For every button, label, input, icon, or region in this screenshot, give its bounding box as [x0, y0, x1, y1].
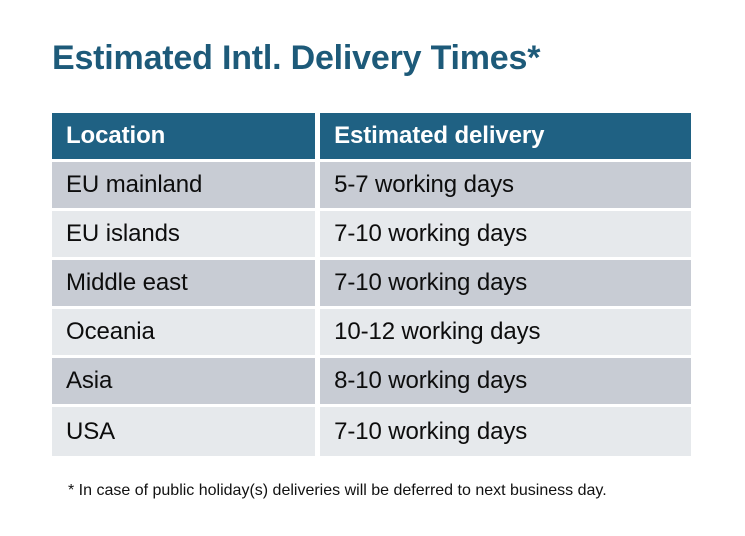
delivery-times-page: Estimated Intl. Delivery Times* Location… — [0, 0, 745, 536]
column-header-location: Location — [52, 113, 320, 162]
column-header-estimated-delivery: Estimated delivery — [320, 113, 691, 162]
table-body: EU mainland 5-7 working days EU islands … — [52, 162, 691, 456]
cell-estimated-delivery: 7-10 working days — [320, 407, 691, 456]
table-header-row: Location Estimated delivery — [52, 113, 691, 162]
footnote: * In case of public holiday(s) deliverie… — [68, 480, 607, 502]
cell-location: Oceania — [52, 309, 320, 358]
page-title: Estimated Intl. Delivery Times* — [52, 36, 540, 80]
delivery-times-table: Location Estimated delivery EU mainland … — [52, 113, 691, 456]
cell-location: Asia — [52, 358, 320, 407]
cell-estimated-delivery: 7-10 working days — [320, 260, 691, 309]
table-row: Middle east 7-10 working days — [52, 260, 691, 309]
table-row: EU islands 7-10 working days — [52, 211, 691, 260]
table-row: Oceania 10-12 working days — [52, 309, 691, 358]
cell-estimated-delivery: 5-7 working days — [320, 162, 691, 211]
cell-location: EU mainland — [52, 162, 320, 211]
cell-estimated-delivery: 7-10 working days — [320, 211, 691, 260]
cell-estimated-delivery: 10-12 working days — [320, 309, 691, 358]
cell-location: Middle east — [52, 260, 320, 309]
table-row: USA 7-10 working days — [52, 407, 691, 456]
table-row: Asia 8-10 working days — [52, 358, 691, 407]
table-row: EU mainland 5-7 working days — [52, 162, 691, 211]
cell-location: EU islands — [52, 211, 320, 260]
table-header: Location Estimated delivery — [52, 113, 691, 162]
cell-location: USA — [52, 407, 320, 456]
cell-estimated-delivery: 8-10 working days — [320, 358, 691, 407]
